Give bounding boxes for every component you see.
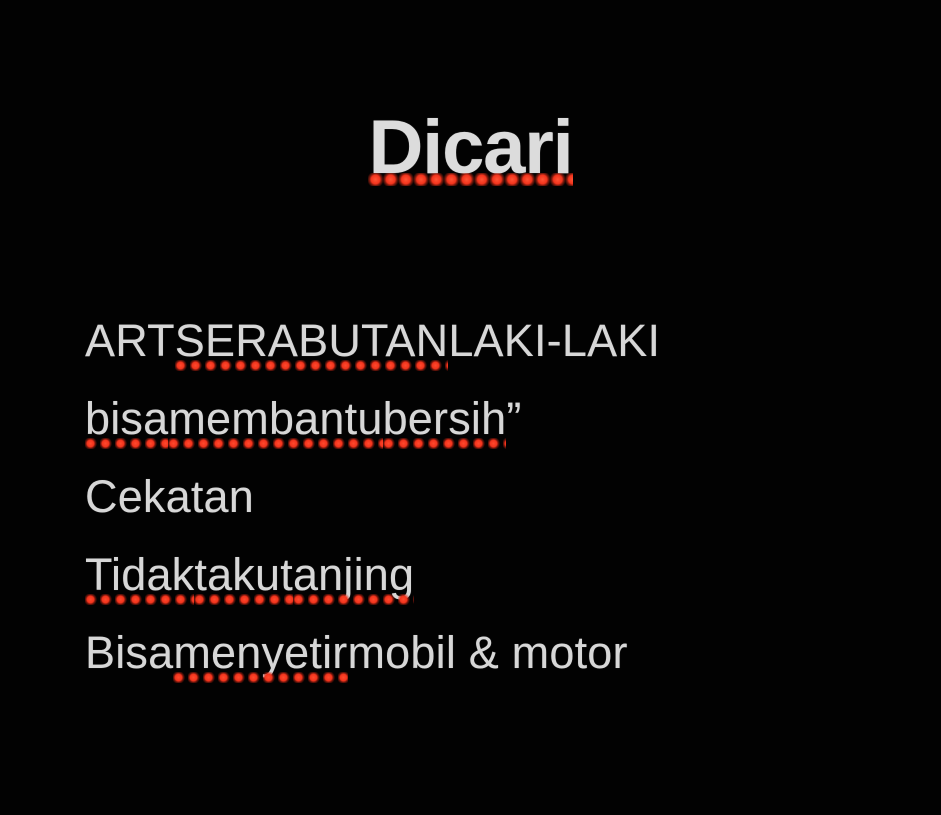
line-5-segment-1: Bisa <box>85 622 173 684</box>
line-5-segment-3: mobil & motor <box>348 622 628 684</box>
title-text: Dicari <box>368 106 572 190</box>
line-4-segment-1-misspelled: Tidak <box>85 544 194 606</box>
page-title: Dicari <box>368 106 572 204</box>
text-line-4: Tidak takut anjing <box>85 544 885 622</box>
body-text-block: ART SERABUTAN LAKI-LAKI bisa membantu be… <box>85 310 885 700</box>
text-line-5: Bisa menyetir mobil & motor <box>85 622 885 700</box>
line-5-segment-2-misspelled: menyetir <box>173 622 347 684</box>
line-2-segment-2-misspelled: membantu <box>168 388 382 450</box>
line-3-segment-1: Cekatan <box>85 466 254 528</box>
line-1-segment-3: LAKI-LAKI <box>448 310 660 372</box>
line-4-segment-3-misspelled: anjing <box>293 544 414 606</box>
line-2-closing-quote: ” <box>506 388 521 450</box>
text-line-3: Cekatan <box>85 466 885 544</box>
text-line-1: ART SERABUTAN LAKI-LAKI <box>85 310 885 388</box>
line-2-segment-3-misspelled: bersih <box>383 388 507 450</box>
line-1-segment-1: ART <box>85 310 175 372</box>
line-1-segment-2-misspelled: SERABUTAN <box>175 310 449 372</box>
poster-canvas: Dicari ART SERABUTAN LAKI-LAKI bisa memb… <box>0 0 941 815</box>
text-line-2: bisa membantu bersih” <box>85 388 885 466</box>
line-2-segment-1-misspelled: bisa <box>85 388 168 450</box>
title-container: Dicari <box>0 106 941 204</box>
line-4-segment-2-misspelled: takut <box>194 544 293 606</box>
